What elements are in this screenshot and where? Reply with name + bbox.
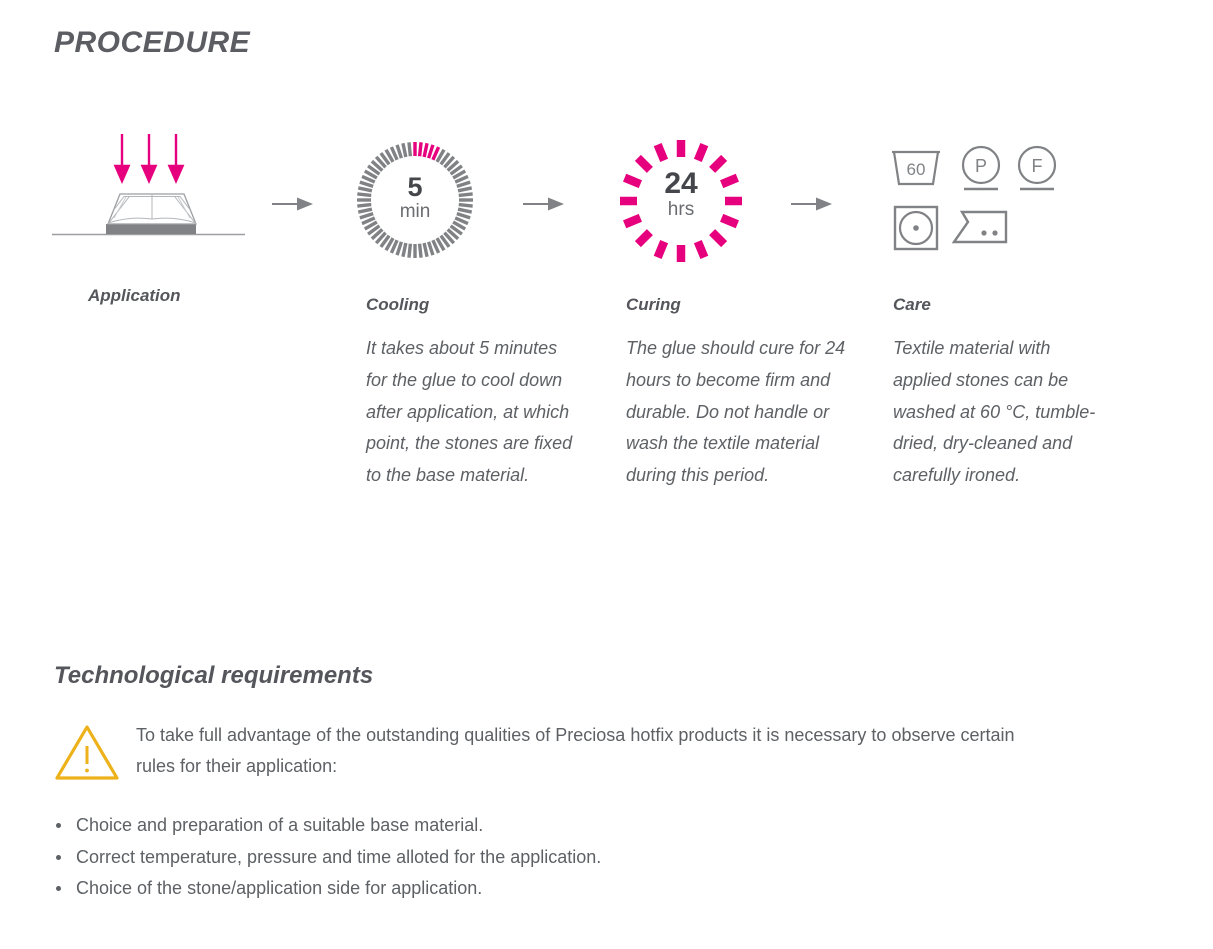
step-body-curing: The glue should cure for 24 hours to bec… — [626, 333, 854, 492]
page-title: PROCEDURE — [54, 26, 250, 60]
dryclean-p-icon: P — [956, 144, 1006, 199]
curing-dial-value: 24 — [618, 169, 744, 199]
wash-tub-60-icon: 60 — [890, 146, 942, 197]
bullet-dot-icon — [56, 886, 61, 891]
bullet-dot-icon — [56, 855, 61, 860]
iron-two-dots-icon — [952, 206, 1014, 255]
timer-burst-icon: 24 hrs — [618, 138, 744, 264]
step-heading-care: Care — [893, 295, 931, 315]
step-heading-cooling: Cooling — [366, 295, 429, 315]
svg-text:F: F — [1032, 156, 1043, 176]
step-arrow-3 — [791, 194, 835, 214]
requirements-list: Choice and preparation of a suitable bas… — [54, 810, 954, 905]
dryclean-f-icon: F — [1012, 144, 1062, 199]
step-body-cooling: It takes about 5 minutes for the glue to… — [366, 333, 576, 492]
warning-text: To take full advantage of the outstandin… — [136, 720, 1016, 782]
list-item-label: Choice and preparation of a suitable bas… — [76, 815, 483, 835]
step-heading-curing: Curing — [626, 295, 681, 315]
list-item: Choice of the stone/application side for… — [54, 873, 954, 905]
list-item-label: Correct temperature, pressure and time a… — [76, 847, 601, 867]
tumble-dry-icon — [892, 204, 940, 257]
warning-block: To take full advantage of the outstandin… — [54, 720, 1054, 790]
step-arrow-1 — [272, 194, 316, 214]
procedure-page: PROCEDURE — [0, 0, 1213, 949]
list-item: Correct temperature, pressure and time a… — [54, 842, 954, 874]
step-heading-application: Application — [88, 286, 181, 306]
step-body-care: Textile material with applied stones can… — [893, 333, 1101, 492]
care-symbols-icon: 60 P F — [890, 142, 1070, 257]
cooling-dial-value: 5 — [355, 174, 475, 201]
step-arrow-2 — [523, 194, 567, 214]
list-item: Choice and preparation of a suitable bas… — [54, 810, 954, 842]
tech-requirements-title: Technological requirements — [54, 662, 373, 690]
curing-dial-unit: hrs — [618, 199, 744, 221]
svg-text:60: 60 — [907, 160, 926, 179]
list-item-label: Choice of the stone/application side for… — [76, 878, 482, 898]
svg-text:P: P — [975, 156, 987, 176]
warning-triangle-icon — [54, 724, 120, 782]
timer-dial-icon: 5 min — [355, 140, 475, 260]
stone-pressure-arrows-icon — [52, 128, 252, 248]
cooling-dial-unit: min — [355, 201, 475, 223]
bullet-dot-icon — [56, 823, 61, 828]
